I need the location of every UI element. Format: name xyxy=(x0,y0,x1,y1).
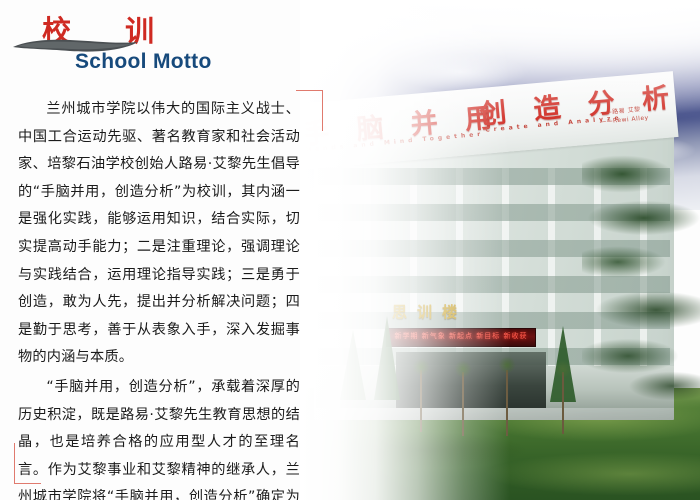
motto-article: 兰州城市学院以伟大的国际主义战士、中国工合运动先驱、著名教育家和社会活动家、培黎… xyxy=(0,96,322,500)
conifer-tree-2 xyxy=(374,316,400,400)
conifer-tree-1 xyxy=(340,330,366,400)
sapling-trunk-4 xyxy=(562,372,564,434)
building-name-sign: 思训楼 xyxy=(392,300,500,324)
led-banner-text: 新学期 新气象 新起点 新目标 新收获 xyxy=(387,329,535,344)
sapling-crown-2 xyxy=(452,358,474,380)
article-paragraph: 兰州城市学院以伟大的国际主义战士、中国工合运动先驱、著名教育家和社会活动家、培黎… xyxy=(0,96,322,372)
page-title-en: School Motto xyxy=(75,50,212,74)
corner-bracket-bottom-left xyxy=(14,443,41,484)
led-banner: 新学期 新气象 新起点 新目标 新收获 xyxy=(386,328,536,347)
page-header: 校 训 School Motto xyxy=(0,0,330,86)
sapling-trunk-1 xyxy=(420,370,422,432)
sapling-trunk-2 xyxy=(462,372,464,436)
school-motto-page: 手 脑 并 用 Hands and Mind Together 创 造 分 析 … xyxy=(0,0,700,500)
sapling-crown-3 xyxy=(496,354,518,376)
sapling-crown-4 xyxy=(552,358,574,380)
sapling-trunk-3 xyxy=(506,370,508,436)
corner-bracket-top-right xyxy=(296,90,323,131)
article-paragraph: “手脑并用，创造分析”，承载着深厚的历史积淀，既是路易·艾黎先生教育思想的结晶，… xyxy=(0,374,322,500)
campus-photo: 手 脑 并 用 Hands and Mind Together 创 造 分 析 … xyxy=(300,0,700,500)
sapling-crown-1 xyxy=(410,356,432,378)
conifer-tree-large xyxy=(582,150,700,420)
